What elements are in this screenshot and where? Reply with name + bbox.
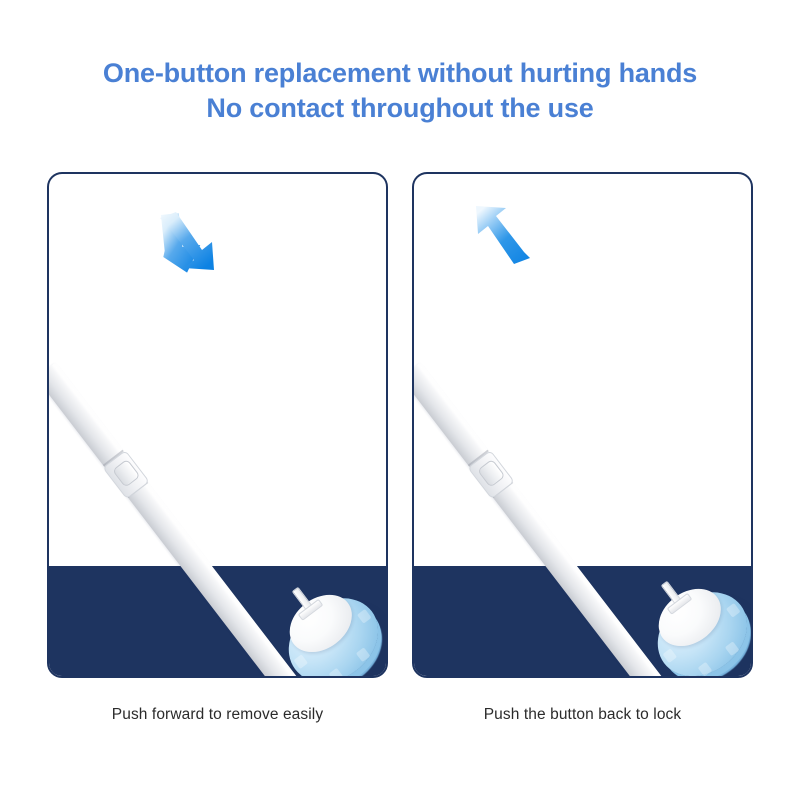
headline-line-1: One-button replacement without hurting h… [0,56,800,91]
pad-notch [357,609,372,624]
pad-notch [726,603,741,618]
pad-notch [662,648,677,663]
caption-remove: Push forward to remove easily [47,703,388,727]
panel-lock [412,172,753,678]
panel-remove [47,172,388,678]
headline-line-2: No contact throughout the use [0,91,800,126]
pad-notch [356,647,371,662]
mop-head [633,564,753,678]
pad-notch [329,668,344,678]
pad-notch [698,662,713,677]
arrow-down-right-icon [154,206,228,280]
panel-captions: Push forward to remove easily Push the b… [0,703,800,737]
caption-lock: Push the button back to lock [412,703,753,727]
page-headline: One-button replacement without hurting h… [0,56,800,126]
mop-pole [412,362,674,678]
pad-notch [725,641,740,656]
arrow-up-left-icon [462,196,536,270]
pad-notch [293,654,308,669]
illustration-panels [0,172,800,678]
